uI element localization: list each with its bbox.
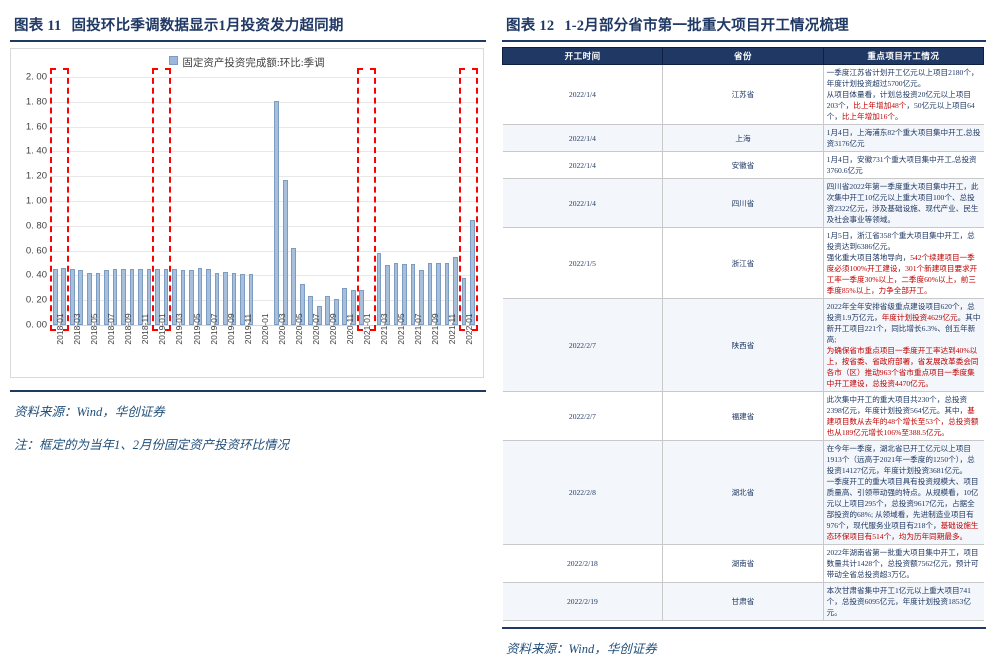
y-axis-tick: 1. 20	[26, 171, 47, 182]
chart-legend: 固定资产投资完成额:环比:季调	[11, 55, 483, 70]
cell-start-date: 2022/2/8	[503, 441, 663, 545]
x-axis-slot	[400, 327, 409, 375]
detail-text: 此次集中开工的重大项目共230个，总投资2398亿元，年度计划投资564亿元。其…	[827, 395, 967, 415]
detail-text: 一季度江苏省计划开工亿元以上项目2180个，年度计划投资超过5700亿元。	[827, 68, 979, 88]
bar-slot	[153, 77, 162, 325]
x-axis-slot: 2020-05	[289, 327, 298, 375]
cell-start-date: 2022/1/4	[503, 179, 663, 228]
bar-slot	[366, 77, 375, 325]
detail-text: 1月4日，上海浦东82个重大项目集中开工,总投资3176亿元	[827, 128, 981, 148]
x-axis-slot: 2020-11	[341, 327, 350, 375]
legend-label: 固定资产投资完成额:环比:季调	[182, 58, 324, 69]
y-axis-tick: 0. 20	[26, 295, 47, 306]
bar-slot	[400, 77, 409, 325]
bar-slot	[111, 77, 120, 325]
table-row[interactable]: 2022/2/8湖北省在今年一季度，湖北省已开工亿元以上项目1913个（远高于2…	[503, 441, 984, 545]
detail-text: 在今年一季度，湖北省已开工亿元以上项目1913个（远高于2021年一季度的125…	[827, 444, 975, 475]
detail-text: 1月4日，安徽731个重大项目集中开工,总投资3760.6亿元	[827, 155, 977, 175]
x-axis-slot: 2021-05	[392, 327, 401, 375]
bar-slot	[451, 77, 460, 325]
cell-province: 湖南省	[663, 545, 823, 583]
source-divider-left	[10, 390, 486, 392]
bar-slot	[324, 77, 333, 325]
x-axis-slot	[349, 327, 358, 375]
bar-slot	[196, 77, 205, 325]
x-axis-slot: 2020-09	[324, 327, 333, 375]
cell-start-date: 2022/2/19	[503, 583, 663, 621]
y-axis-tick: 2. 00	[26, 72, 47, 83]
cell-project-details: 此次集中开工的重大项目共230个，总投资2398亿元，年度计划投资564亿元。其…	[823, 392, 983, 441]
bar-slot	[230, 77, 239, 325]
detail-text: 四川省2022年第一季度重大项目集中开工，此次集中开工10亿元以上重大项目100…	[827, 182, 979, 224]
bar-slot	[94, 77, 103, 325]
y-axis-tick: 0. 60	[26, 245, 47, 256]
detail-highlight-text: 比上年增加48个	[853, 101, 906, 110]
x-axis-slot	[128, 327, 137, 375]
bar-slot	[68, 77, 77, 325]
chart-bar[interactable]	[274, 101, 279, 325]
bar-slot	[434, 77, 443, 325]
cell-project-details: 四川省2022年第一季度重大项目集中开工，此次集中开工10亿元以上重大项目100…	[823, 179, 983, 228]
table-row[interactable]: 2022/2/7福建省此次集中开工的重大项目共230个，总投资2398亿元，年度…	[503, 392, 984, 441]
cell-province: 湖北省	[663, 441, 823, 545]
source-divider-right	[502, 627, 986, 629]
bar-slot	[145, 77, 154, 325]
bar-slot	[375, 77, 384, 325]
bar-slot	[60, 77, 69, 325]
table-row[interactable]: 2022/1/4四川省四川省2022年第一季度重大项目集中开工，此次集中开工10…	[503, 179, 984, 228]
x-axis-slot	[383, 327, 392, 375]
bar-slot	[426, 77, 435, 325]
source-note-left: 资料来源：Wind，华创证券	[10, 401, 486, 420]
x-axis-slot: 2018-01	[51, 327, 60, 375]
detail-text: 强化重大项目落地导向，	[827, 253, 911, 262]
exhibit-11-title-label: 图表	[14, 18, 43, 34]
bar-slot	[85, 77, 94, 325]
bar-slot	[383, 77, 392, 325]
table-head: 开工时间 省份 重点项目开工情况	[503, 48, 984, 65]
chart-footnote: 注：框定的为当年1、2月份固定资产投资环比情况	[10, 434, 486, 453]
exhibit-11-title-number: 11	[43, 18, 71, 34]
cell-province: 福建省	[663, 392, 823, 441]
detail-highlight-text: 比上年增加16个	[842, 112, 895, 121]
cell-start-date: 2022/2/7	[503, 392, 663, 441]
chart-bar[interactable]	[283, 180, 288, 325]
fixed-asset-investment-chart: 固定资产投资完成额:环比:季调 0. 000. 200. 400. 600. 8…	[10, 48, 484, 378]
x-axis-slot: 2019-09	[221, 327, 230, 375]
chart-bars	[51, 77, 477, 325]
cell-start-date: 2022/1/5	[503, 228, 663, 299]
x-axis-slot	[315, 327, 324, 375]
x-axis-slot: 2018-03	[68, 327, 77, 375]
bar-slot	[392, 77, 401, 325]
detail-highlight-text: 为确保省市重点项目一季度开工率达到40%以上，按省委、省政府部署，省发展改革委会…	[827, 346, 979, 388]
bar-slot	[162, 77, 171, 325]
x-axis-slot	[162, 327, 171, 375]
bar-slot	[136, 77, 145, 325]
chart-bar[interactable]	[470, 220, 475, 325]
bar-slot	[187, 77, 196, 325]
x-axis-slot: 2019-01	[153, 327, 162, 375]
bar-slot	[204, 77, 213, 325]
x-axis-slot: 2021-07	[409, 327, 418, 375]
exhibit-12-title: 图表121-2月部分省市第一批重大项目开工情况梳理	[502, 0, 986, 40]
cell-project-details: 1月5日，浙江省358个重大项目集中开工，总投资达到6386亿元。强化重大项目落…	[823, 228, 983, 299]
y-axis-tick: 1. 80	[26, 96, 47, 107]
exhibit-12-title-number: 12	[535, 18, 564, 34]
x-axis-slot	[298, 327, 307, 375]
x-axis-slot: 2020-03	[272, 327, 281, 375]
x-axis-slot: 2019-05	[187, 327, 196, 375]
detail-text: 。	[895, 112, 903, 121]
table-row[interactable]: 2022/1/5浙江省1月5日，浙江省358个重大项目集中开工，总投资达到638…	[503, 228, 984, 299]
x-axis-slot	[179, 327, 188, 375]
x-axis-slot	[264, 327, 273, 375]
x-axis-slot	[94, 327, 103, 375]
bar-slot	[77, 77, 86, 325]
cell-project-details: 一季度江苏省计划开工亿元以上项目2180个，年度计划投资超过5700亿元。从项目…	[823, 65, 983, 125]
cell-province: 浙江省	[663, 228, 823, 299]
x-axis-slot	[213, 327, 222, 375]
y-axis-tick: 1. 40	[26, 146, 47, 157]
bar-slot	[332, 77, 341, 325]
x-axis-slot: 2018-07	[102, 327, 111, 375]
x-axis-slot: 2021-03	[375, 327, 384, 375]
y-axis-tick: 1. 00	[26, 196, 47, 207]
detail-text: 本次甘肃省集中开工1亿元以上重大项目741个，总投资6095亿元，年度计划投资1…	[827, 586, 971, 617]
detail-text: 1月5日，浙江省358个重大项目集中开工，总投资达到6386亿元。	[827, 231, 975, 251]
x-axis-slot	[332, 327, 341, 375]
exhibit-12-panel: 图表121-2月部分省市第一批重大项目开工情况梳理 开工时间 省份 重点项目开工…	[496, 0, 992, 543]
x-axis-slot	[468, 327, 477, 375]
y-axis-tick: 0. 40	[26, 270, 47, 281]
x-axis-slot	[111, 327, 120, 375]
bar-slot	[179, 77, 188, 325]
x-axis-slot: 2019-03	[170, 327, 179, 375]
x-axis-slot	[434, 327, 443, 375]
bar-slot	[51, 77, 60, 325]
col-start-date: 开工时间	[503, 48, 663, 65]
bar-slot	[358, 77, 367, 325]
x-axis-slot	[451, 327, 460, 375]
bar-slot	[213, 77, 222, 325]
cell-project-details: 在今年一季度，湖北省已开工亿元以上项目1913个（远高于2021年一季度的125…	[823, 441, 983, 545]
bar-slot	[341, 77, 350, 325]
exhibit-12-title-text: 1-2月部分省市第一批重大项目开工情况梳理	[564, 18, 849, 34]
cell-province: 四川省	[663, 179, 823, 228]
x-axis-slot: 2021-11	[443, 327, 452, 375]
cell-province: 安徽省	[663, 152, 823, 179]
exhibit-11-panel: 图表11固投环比季调数据显示1月投资发力超同期 固定资产投资完成额:环比:季调 …	[0, 0, 496, 543]
chart-plot-area: 0. 000. 200. 400. 600. 801. 001. 201. 40…	[51, 77, 477, 325]
cell-start-date: 2022/1/4	[503, 65, 663, 125]
table-row[interactable]: 2022/2/7陕西省2022年全年安排省级重点建设项目620个，总投资1.9万…	[503, 299, 984, 392]
x-axis-slot: 2018-05	[85, 327, 94, 375]
title-divider-left	[10, 40, 486, 42]
cell-start-date: 2022/2/7	[503, 299, 663, 392]
bar-slot	[306, 77, 315, 325]
cell-start-date: 2022/1/4	[503, 125, 663, 152]
x-axis-slot	[417, 327, 426, 375]
x-axis-slot: 2019-07	[204, 327, 213, 375]
x-axis-slot: 2021-01	[358, 327, 367, 375]
x-axis-slot	[281, 327, 290, 375]
cell-start-date: 2022/1/4	[503, 152, 663, 179]
x-axis-slot: 2018-11	[136, 327, 145, 375]
x-axis-slot	[77, 327, 86, 375]
bar-slot	[247, 77, 256, 325]
exhibit-11-title-text: 固投环比季调数据显示1月投资发力超同期	[72, 18, 344, 34]
bar-slot	[468, 77, 477, 325]
col-details: 重点项目开工情况	[823, 48, 983, 65]
cell-province: 上海	[663, 125, 823, 152]
bar-slot	[119, 77, 128, 325]
bar-slot	[128, 77, 137, 325]
table-row[interactable]: 2022/1/4江苏省一季度江苏省计划开工亿元以上项目2180个，年度计划投资超…	[503, 65, 984, 125]
cell-province: 陕西省	[663, 299, 823, 392]
cell-project-details: 本次甘肃省集中开工1亿元以上重大项目741个，总投资6095亿元，年度计划投资1…	[823, 583, 983, 621]
cell-start-date: 2022/2/18	[503, 545, 663, 583]
bar-slot	[255, 77, 264, 325]
cell-province: 甘肃省	[663, 583, 823, 621]
report-page: 图表11固投环比季调数据显示1月投资发力超同期 固定资产投资完成额:环比:季调 …	[0, 0, 992, 543]
x-axis-slot	[60, 327, 69, 375]
bar-slot	[102, 77, 111, 325]
bar-slot	[417, 77, 426, 325]
cell-province: 江苏省	[663, 65, 823, 125]
x-axis-slot	[247, 327, 256, 375]
table-row[interactable]: 2022/2/19甘肃省本次甘肃省集中开工1亿元以上重大项目741个，总投资60…	[503, 583, 984, 621]
bar-slot	[298, 77, 307, 325]
table-row[interactable]: 2022/1/4安徽省1月4日，安徽731个重大项目集中开工,总投资3760.6…	[503, 152, 984, 179]
bar-slot	[238, 77, 247, 325]
title-divider-right	[502, 40, 986, 42]
x-axis-slot	[145, 327, 154, 375]
bar-slot	[443, 77, 452, 325]
y-axis-tick: 0. 00	[26, 320, 47, 331]
legend-swatch-icon	[169, 56, 178, 65]
source-note-right: 资料来源：Wind，华创证券	[502, 638, 986, 657]
major-projects-table: 开工时间 省份 重点项目开工情况 2022/1/4江苏省一季度江苏省计划开工亿元…	[502, 47, 984, 621]
bar-slot	[409, 77, 418, 325]
x-axis-slot: 2020-07	[306, 327, 315, 375]
bar-slot	[264, 77, 273, 325]
bar-slot	[460, 77, 469, 325]
cell-project-details: 2022年湖南省第一批重大项目集中开工，项目数量共计1428个，总投资额7562…	[823, 545, 983, 583]
cell-project-details: 2022年全年安排省级重点建设项目620个，总投资1.9万亿元，年度计划投资46…	[823, 299, 983, 392]
chart-x-axis-labels: 2018-012018-032018-052018-072018-092018-…	[51, 327, 477, 375]
x-axis-slot	[366, 327, 375, 375]
detail-highlight-text: 年度计划投资4629亿元	[882, 313, 958, 322]
exhibit-12-title-label: 图表	[506, 18, 535, 34]
table-row[interactable]: 2022/1/4上海1月4日，上海浦东82个重大项目集中开工,总投资3176亿元	[503, 125, 984, 152]
x-axis-slot: 2021-09	[426, 327, 435, 375]
bar-slot	[281, 77, 290, 325]
table-row[interactable]: 2022/2/18湖南省2022年湖南省第一批重大项目集中开工，项目数量共计14…	[503, 545, 984, 583]
x-axis-slot: 2018-09	[119, 327, 128, 375]
x-axis-slot	[196, 327, 205, 375]
cell-project-details: 1月4日，上海浦东82个重大项目集中开工,总投资3176亿元	[823, 125, 983, 152]
x-axis-slot	[230, 327, 239, 375]
bar-slot	[289, 77, 298, 325]
detail-text: 2022年湖南省第一批重大项目集中开工，项目数量共计1428个，总投资额7562…	[827, 548, 979, 579]
y-axis-tick: 1. 60	[26, 121, 47, 132]
table-header-row: 开工时间 省份 重点项目开工情况	[503, 48, 984, 65]
bar-slot	[170, 77, 179, 325]
col-province: 省份	[663, 48, 823, 65]
bar-slot	[221, 77, 230, 325]
bar-slot	[349, 77, 358, 325]
x-axis-slot: 2020-01	[255, 327, 264, 375]
x-axis-slot: 2019-11	[238, 327, 247, 375]
exhibit-11-title: 图表11固投环比季调数据显示1月投资发力超同期	[10, 0, 486, 40]
bar-slot	[315, 77, 324, 325]
table-body: 2022/1/4江苏省一季度江苏省计划开工亿元以上项目2180个，年度计划投资超…	[503, 65, 984, 621]
cell-project-details: 1月4日，安徽731个重大项目集中开工,总投资3760.6亿元	[823, 152, 983, 179]
bar-slot	[272, 77, 281, 325]
x-axis-slot: 2022-01	[460, 327, 469, 375]
y-axis-tick: 0. 80	[26, 220, 47, 231]
